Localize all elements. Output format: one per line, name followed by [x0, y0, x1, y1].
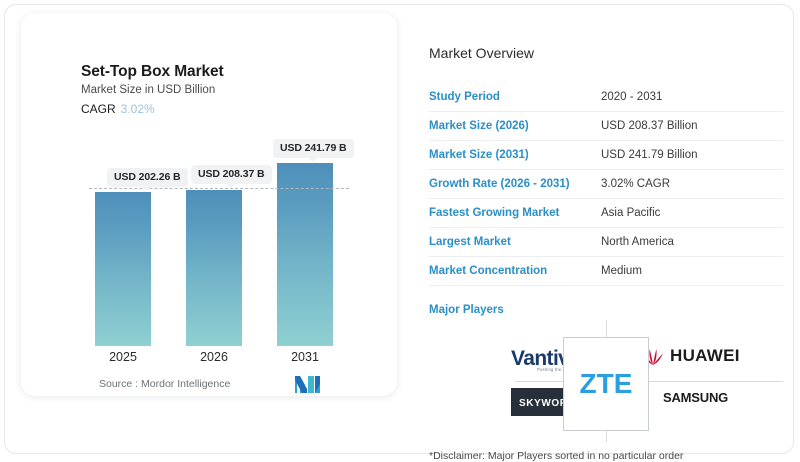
- row-key: Fastest Growing Market: [429, 199, 601, 228]
- x-axis-label-2026: 2026: [186, 350, 242, 364]
- table-row: Largest Market North America: [429, 228, 783, 257]
- bar-value-label-2025: USD 202.26 B: [107, 168, 188, 187]
- huawei-wordmark: HUAWEI: [670, 346, 740, 366]
- disclaimer-text: *Disclaimer: Major Players sorted in no …: [429, 450, 783, 462]
- table-row: Fastest Growing Market Asia Pacific: [429, 199, 783, 228]
- row-value: 2020 - 2031: [601, 83, 783, 112]
- row-key: Market Size (2026): [429, 112, 601, 141]
- table-row: Market Size (2026) USD 208.37 Billion: [429, 112, 783, 141]
- row-key: Market Size (2031): [429, 141, 601, 170]
- logo-samsung: SAMSUNG: [663, 390, 728, 405]
- reference-dashed-line: [89, 188, 349, 189]
- row-value: Asia Pacific: [601, 199, 783, 228]
- bar-chart-plot: USD 202.26 B USD 208.37 B USD 241.79 B 2…: [21, 13, 397, 396]
- logo-huawei: HUAWEI: [641, 345, 740, 367]
- row-value: North America: [601, 228, 783, 257]
- x-axis-label-2025: 2025: [95, 350, 151, 364]
- row-value: USD 208.37 Billion: [601, 112, 783, 141]
- overview-table: Study Period 2020 - 2031 Market Size (20…: [429, 83, 783, 286]
- major-players-title: Major Players: [429, 304, 783, 316]
- x-axis-label-2031: 2031: [277, 350, 333, 364]
- overview-title: Market Overview: [429, 45, 783, 61]
- major-players-logo-grid: Vantiva Pushing the edge: [429, 320, 783, 442]
- table-row: Study Period 2020 - 2031: [429, 83, 783, 112]
- source-text: Source : Mordor Intelligence: [99, 378, 230, 390]
- row-value: Medium: [601, 257, 783, 286]
- mordor-intelligence-logo-icon: [294, 374, 328, 394]
- row-key: Study Period: [429, 83, 601, 112]
- zte-wordmark: ZTE: [580, 368, 633, 400]
- page-frame: Set-Top Box Market Market Size in USD Bi…: [4, 4, 794, 454]
- row-value: 3.02% CAGR: [601, 170, 783, 199]
- row-key: Largest Market: [429, 228, 601, 257]
- bar-2025: [95, 192, 151, 346]
- grid-divider-horizontal: [515, 381, 783, 382]
- market-overview-panel: Market Overview Study Period 2020 - 2031…: [429, 45, 783, 462]
- table-row: Growth Rate (2026 - 2031) 3.02% CAGR: [429, 170, 783, 199]
- bar-2031: [277, 163, 333, 346]
- samsung-wordmark: SAMSUNG: [663, 390, 728, 405]
- bar-value-label-2031: USD 241.79 B: [273, 139, 354, 158]
- table-row: Market Size (2031) USD 241.79 Billion: [429, 141, 783, 170]
- row-key: Market Concentration: [429, 257, 601, 286]
- table-row: Market Concentration Medium: [429, 257, 783, 286]
- logo-zte: ZTE: [563, 337, 649, 431]
- row-value: USD 241.79 Billion: [601, 141, 783, 170]
- chart-card: Set-Top Box Market Market Size in USD Bi…: [21, 13, 397, 396]
- bar-2026: [186, 190, 242, 346]
- bar-value-label-2026: USD 208.37 B: [191, 165, 272, 184]
- row-key: Growth Rate (2026 - 2031): [429, 170, 601, 199]
